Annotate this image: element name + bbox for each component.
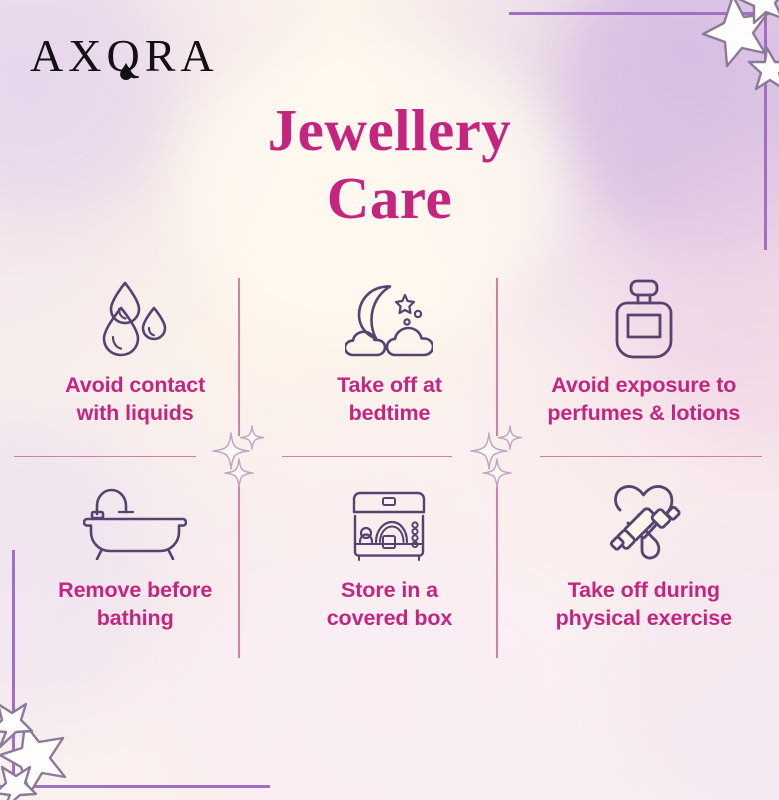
page-title: Jewellery Care	[0, 96, 779, 233]
clawfoot-bathtub-icon	[83, 481, 187, 567]
care-tip-caption: Store in a covered box	[327, 577, 453, 632]
diamond-gem-pendant-icon	[119, 42, 132, 88]
care-tips-grid: Avoid contact with liquids Take off at b…	[8, 262, 771, 672]
brand-logo: AX Q RA	[30, 33, 219, 79]
care-tip-remove-before-bathing: Remove before bathing	[8, 467, 262, 672]
water-droplets-icon	[99, 276, 171, 362]
care-tip-take-off-exercise: Take off during physical exercise	[517, 467, 771, 672]
care-tip-caption: Avoid contact with liquids	[65, 372, 205, 427]
brand-logo-suffix: RA	[145, 33, 219, 79]
care-tip-caption: Avoid exposure to perfumes & lotions	[547, 372, 740, 427]
frame-rule-top-right-horizontal	[509, 12, 779, 15]
care-tip-take-off-bedtime: Take off at bedtime	[262, 262, 516, 467]
brand-logo-prefix: AX	[30, 33, 106, 79]
page-title-line1: Jewellery	[268, 97, 512, 163]
crescent-moon-stars-clouds-icon	[345, 276, 433, 362]
page-title-line2: Care	[0, 164, 779, 232]
heart-dumbbell-icon	[598, 481, 690, 567]
care-tip-store-covered-box: Store in a covered box	[262, 467, 516, 672]
care-tip-avoid-perfumes: Avoid exposure to perfumes & lotions	[517, 262, 771, 467]
perfume-bottle-icon	[613, 276, 675, 362]
frame-rule-bottom-left-horizontal	[0, 785, 270, 788]
poster-canvas: AX Q RA Jewellery Care	[0, 0, 779, 800]
care-tip-caption: Take off at bedtime	[337, 372, 442, 427]
care-tip-caption: Take off during physical exercise	[556, 577, 732, 632]
care-tip-avoid-liquids: Avoid contact with liquids	[8, 262, 262, 467]
jewellery-box-icon	[346, 481, 432, 567]
brand-logo-q: Q	[106, 33, 144, 79]
care-tip-caption: Remove before bathing	[58, 577, 212, 632]
